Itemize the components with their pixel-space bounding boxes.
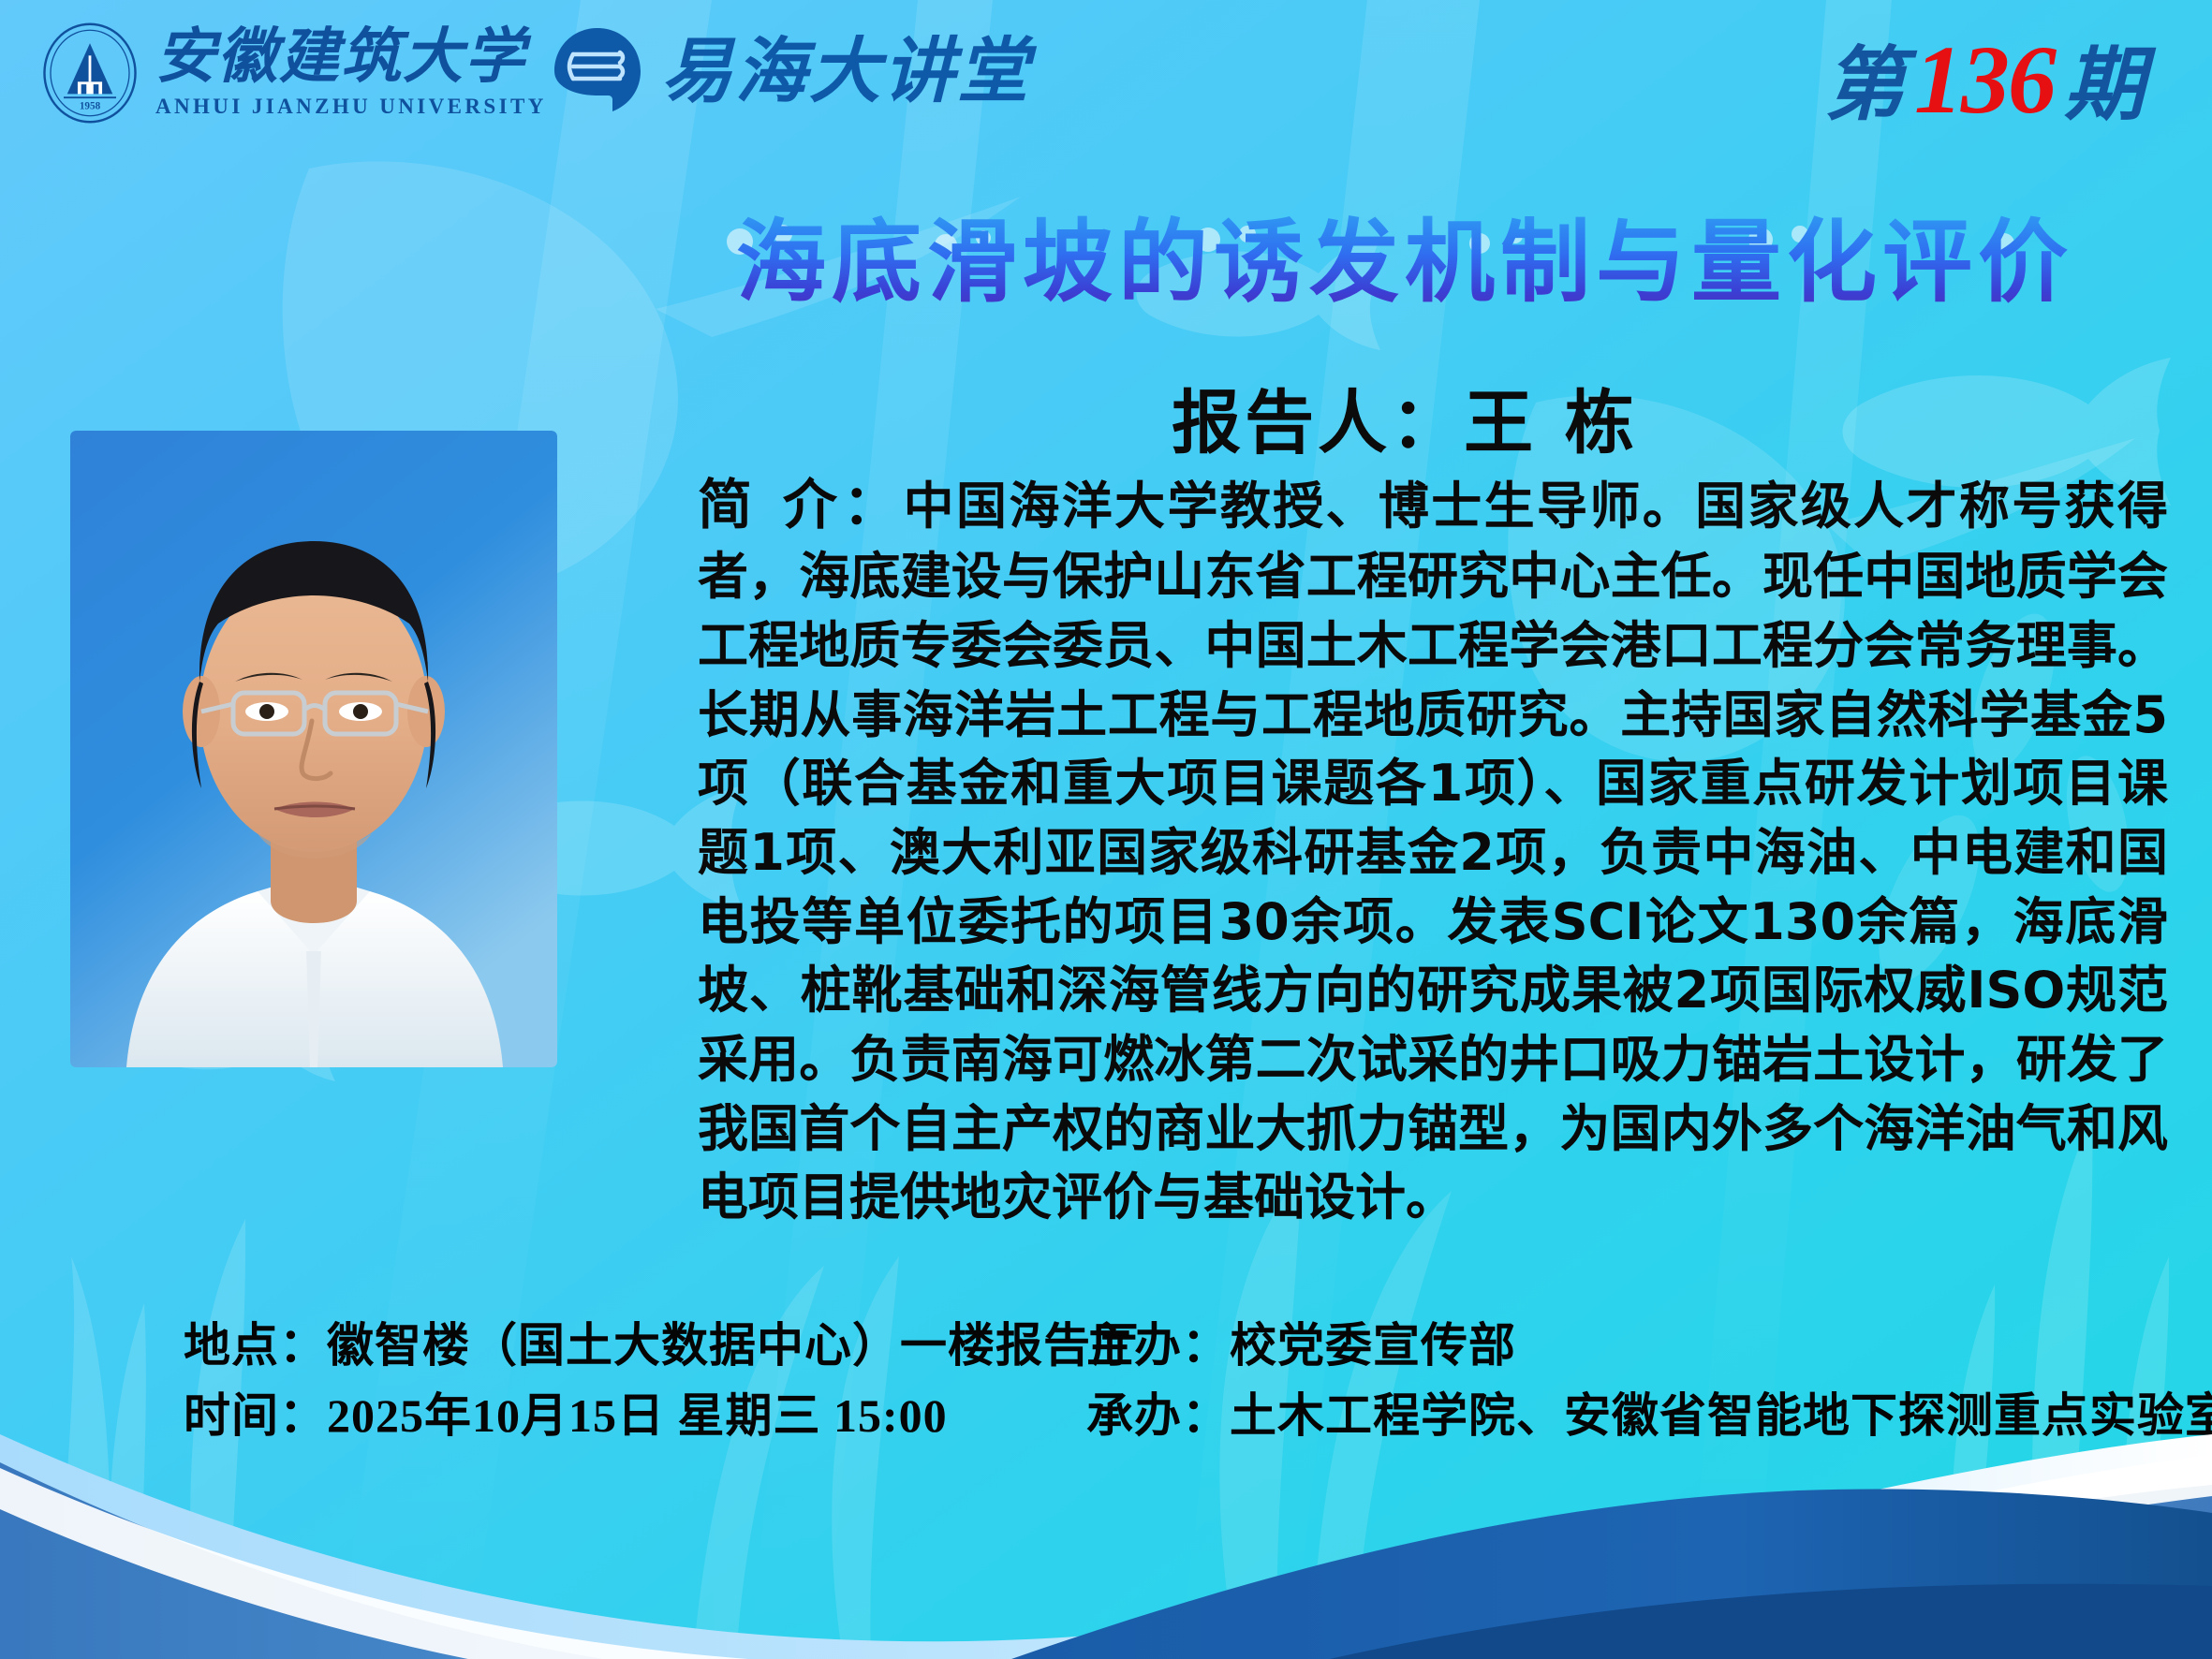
issue-suffix: 期 (2064, 45, 2145, 125)
bottom-wave-decoration (0, 1416, 2212, 1659)
speaker-bio-text: 中国海洋大学教授、博士生导师。国家级人才称号获得者，海底建设与保护山东省工程研究… (698, 477, 2168, 1226)
speaker-portrait (70, 431, 557, 1067)
host-row: 主办：校党委宣传部 (1086, 1311, 2212, 1381)
speaker-bio: 简 介：中国海洋大学教授、博士生导师。国家级人才称号获得者，海底建设与保护山东省… (698, 468, 2168, 1232)
university-name-cn: 安徽建筑大学 (155, 27, 547, 87)
host-label: 主办： (1086, 1319, 1230, 1372)
university-name-en: ANHUI JIANZHU UNIVERSITY (155, 95, 547, 119)
venue-row: 地点：徽智楼（国土大数据中心）一楼报告厅 (184, 1311, 1139, 1381)
poster-header: 1958 安徽建筑大学 ANHUI JIANZHU UNIVERSITY 易海 (0, 0, 2212, 150)
book-speech-bubble-icon (551, 24, 644, 118)
speaker-line: 报告人：王 栋 (656, 367, 2154, 467)
university-logo-group: 1958 安徽建筑大学 ANHUI JIANZHU UNIVERSITY (37, 21, 547, 125)
speaker-name: 王 栋 (1464, 383, 1638, 463)
venue-label: 地点： (184, 1319, 327, 1372)
issue-badge: 第 136 期 (1824, 32, 2145, 129)
svg-text:1958: 1958 (80, 100, 101, 111)
lecture-poster: 1958 安徽建筑大学 ANHUI JIANZHU UNIVERSITY 易海 (0, 0, 2212, 1659)
speaker-label: 报告人： (1172, 383, 1464, 463)
host-value: 校党委宣传部 (1230, 1319, 1516, 1372)
speaker-bio-label: 简 介： (698, 473, 904, 536)
university-crest-icon: 1958 (37, 21, 142, 125)
lecture-series-brand: 易海大讲堂 (551, 24, 1031, 118)
issue-prefix: 第 (1824, 45, 1905, 125)
university-name-block: 安徽建筑大学 ANHUI JIANZHU UNIVERSITY (155, 27, 547, 119)
venue-value: 徽智楼（国土大数据中心）一楼报告厅 (327, 1319, 1139, 1372)
lecture-title-text: 海底滑坡的诱发机制与量化评价 (736, 210, 2073, 315)
lecture-series-name: 易海大讲堂 (661, 36, 1031, 107)
issue-number: 136 (1905, 32, 2064, 129)
lecture-title: 海底滑坡的诱发机制与量化评价 海底滑坡的诱发机制与量化评价 (656, 215, 2154, 310)
